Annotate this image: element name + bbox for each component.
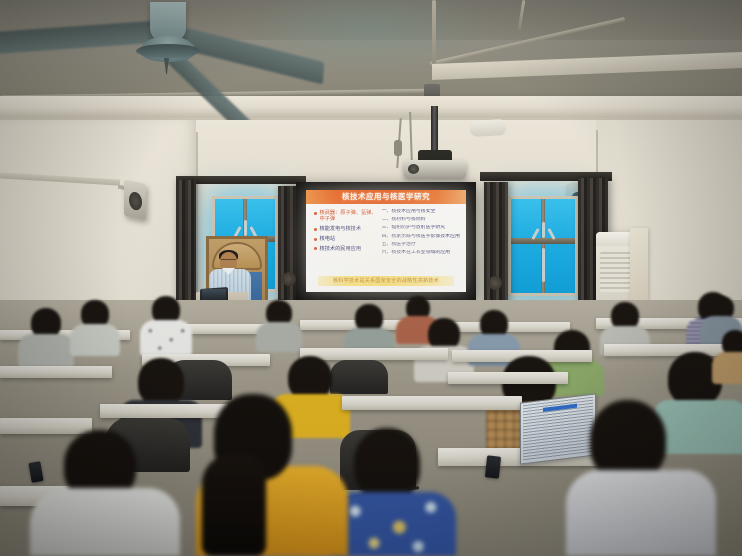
desk (342, 396, 522, 410)
attendee-back-left-b (70, 300, 120, 356)
slide-note-line: 三、辐射防护与放射医学研究 (382, 225, 462, 232)
wall-seam (196, 132, 198, 312)
attendee-front-yellow-top (196, 394, 348, 556)
attendee-head (590, 400, 666, 480)
ceiling-wall-box (470, 119, 507, 137)
floral-pattern (330, 492, 456, 556)
attendee-head (354, 428, 420, 500)
slide-bullet: 核武器：原子弹、氢弹、中子弹 (314, 210, 378, 223)
slide-footer: 核科学技术是关系国家安全的战略性高新技术 (318, 276, 454, 286)
wall-banner (630, 228, 648, 306)
attendee-torso (70, 324, 120, 356)
attendee-front-gray-tshirt (566, 400, 716, 556)
projector-lens-icon (408, 164, 419, 174)
desk (448, 372, 568, 384)
attendee-torso (256, 322, 302, 352)
fan-ring (136, 44, 200, 58)
lecture-hall-photo: 核技术应用与核医学研究 核武器：原子弹、氢弹、中子弹 核能发电与核技术 核电站 … (0, 0, 742, 556)
slide-bullet: 核能发电与核技术 (314, 226, 378, 232)
slide-bullet: 核电站 (314, 236, 378, 242)
curtain-tieback[interactable] (282, 272, 296, 286)
attendee-back-left-a (18, 308, 74, 368)
glasses-icon (221, 259, 236, 264)
slide-bullet-column: 核武器：原子弹、氢弹、中子弹 核能发电与核技术 核电站 核技术的民用应用 (306, 204, 380, 272)
speaker-cone-icon (129, 191, 142, 212)
slide-note-line: 六、核技术在工农业领域的应用 (382, 250, 462, 257)
attendee-rear-center-2 (256, 300, 302, 352)
attendee-torso (566, 470, 716, 556)
bullet-dot-icon (314, 238, 317, 241)
attendee-torso (712, 352, 742, 384)
attendee-far-right-tan (712, 330, 742, 384)
slide-notes-column: 一、核技术应用与核安全 二、核材料与核燃料 三、辐射防护与放射医学研究 四、核素… (380, 204, 466, 272)
attendee-torso (18, 334, 74, 368)
window-handle[interactable] (542, 248, 545, 282)
wall-speaker-left (124, 180, 146, 220)
projector-pole (431, 106, 438, 156)
window-mullion (508, 238, 578, 244)
desk (0, 366, 112, 378)
slide-bullet-label: 核技术的民用应用 (320, 246, 362, 252)
attendee-polka-dot (140, 296, 192, 356)
conduit-pipe (432, 0, 436, 64)
window-latch[interactable] (542, 222, 545, 238)
curtain-tieback[interactable] (488, 276, 502, 290)
bullet-dot-icon (314, 228, 317, 231)
slide-bullet-label: 核电站 (320, 236, 336, 242)
attendee-hair (202, 454, 266, 556)
attendee-front-left-white-shirt (30, 430, 180, 556)
window-right (508, 196, 578, 296)
slide-bullet-label: 核能发电与核技术 (320, 226, 362, 232)
slide-bullet: 核技术的民用应用 (314, 246, 378, 252)
slide-note-line: 五、核医学治疗 (382, 242, 462, 249)
attendee-head (138, 358, 184, 406)
slide-note-line: 二、核材料与核燃料 (382, 217, 462, 224)
curtain-left-outer[interactable] (176, 180, 196, 310)
slide-note-line: 一、核技术应用与核安全 (382, 209, 462, 216)
slide-title: 核技术应用与核医学研究 (306, 190, 466, 204)
slide-note-line: 四、核素示踪与核医学影像技术应用 (382, 234, 462, 241)
projection-screen[interactable]: 核技术应用与核医学研究 核武器：原子弹、氢弹、中子弹 核能发电与核技术 核电站 … (306, 190, 466, 292)
slide-bullet-label: 核武器：原子弹、氢弹、中子弹 (320, 210, 378, 223)
attendee-shirt-pattern (140, 320, 192, 356)
smartphone-on-desk[interactable] (485, 455, 501, 478)
wire-knot (394, 140, 402, 156)
bullet-dot-icon (314, 247, 317, 250)
attendee-front-blue-floral (330, 428, 456, 556)
attendee-torso (30, 488, 180, 556)
window-latch[interactable] (244, 220, 247, 236)
bullet-dot-icon (314, 212, 317, 215)
slide-body: 核武器：原子弹、氢弹、中子弹 核能发电与核技术 核电站 核技术的民用应用 一、核… (306, 204, 466, 272)
